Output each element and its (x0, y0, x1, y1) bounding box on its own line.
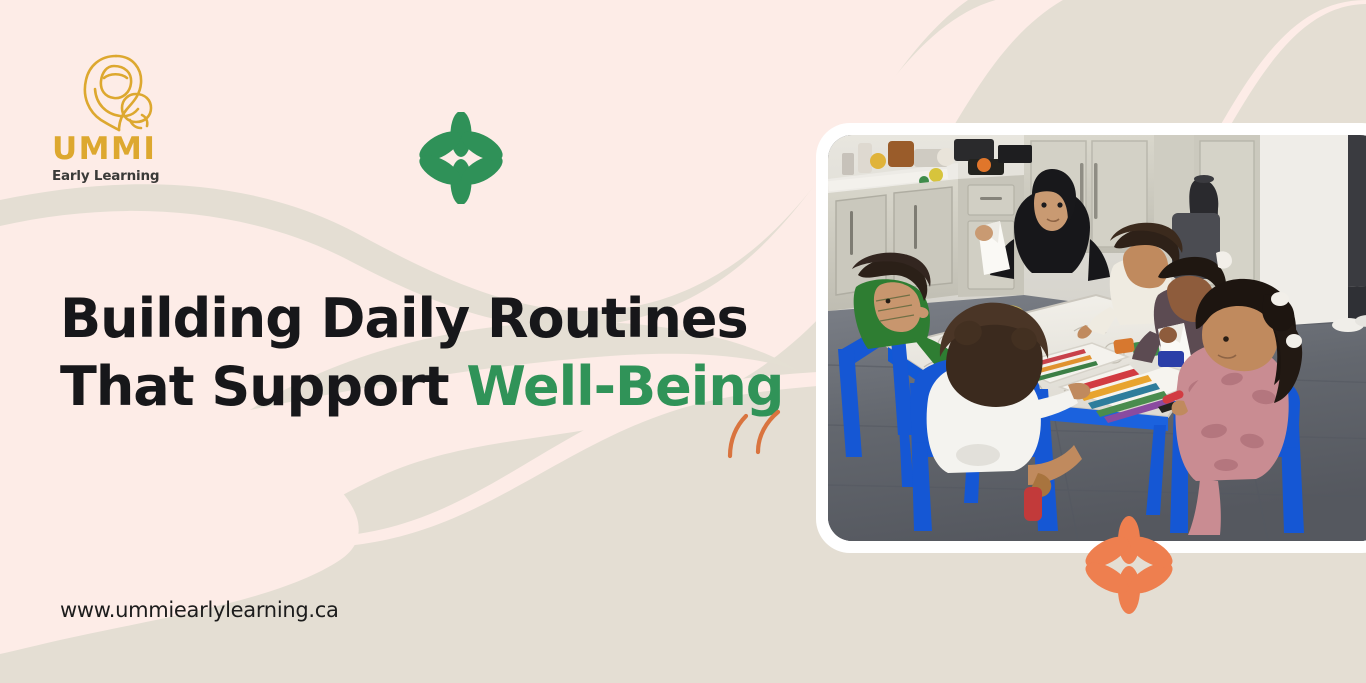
headline-line-1: Building Daily Routines (60, 285, 800, 353)
headline-line-2: That Support Well-Being (60, 353, 800, 421)
promo-banner: UMMI Early Learning (0, 0, 1366, 683)
photo-image (828, 135, 1366, 541)
six-petal-flower-green (418, 112, 504, 204)
mother-and-child-icon (70, 52, 162, 134)
headline-line-2-plain: That Support (60, 355, 466, 418)
brand-logo[interactable]: UMMI Early Learning (52, 52, 222, 192)
photo-card (816, 123, 1366, 553)
six-petal-flower-orange (1083, 516, 1175, 614)
logo-wordmark: UMMI Early Learning (52, 134, 222, 184)
motion-strokes (714, 404, 794, 460)
logo-tagline-text: Early Learning (52, 170, 222, 184)
page-title: Building Daily Routines That Support Wel… (60, 285, 800, 421)
logo-brand-text: UMMI (52, 134, 222, 165)
website-url[interactable]: www.ummiearlylearning.ca (60, 598, 339, 622)
